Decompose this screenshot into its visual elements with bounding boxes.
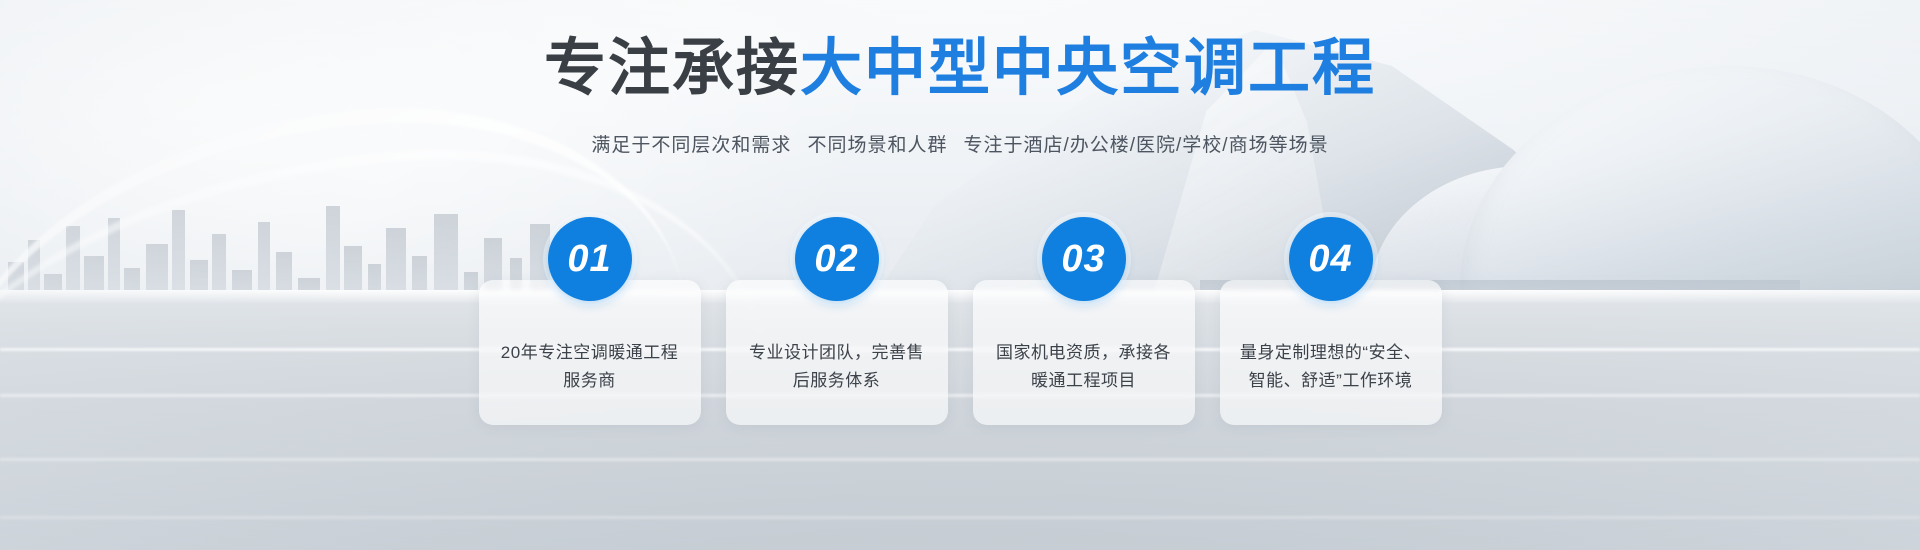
headline-dark-text: 专注承接 (544, 34, 800, 103)
banner-headline: 专注承接大中型中央空调工程 (0, 38, 1920, 100)
banner-subtitle: 满足于不同层次和需求不同场景和人群专注于酒店/办公楼/医院/学校/商场等场景 (0, 130, 1920, 157)
subtitle-part-3: 专注于酒店/办公楼/医院/学校/商场等场景 (963, 135, 1328, 156)
feature-card-01[interactable]: 01 20年专注空调暖通工程服务商 (479, 280, 701, 425)
card-description: 20年专注空调暖通工程服务商 (497, 339, 683, 394)
feature-card-03[interactable]: 03 国家机电资质，承接各暖通工程项目 (973, 280, 1195, 425)
card-number-badge: 03 (1042, 217, 1126, 301)
feature-card-02[interactable]: 02 专业设计团队，完善售后服务体系 (726, 280, 948, 425)
card-number-badge: 01 (548, 217, 632, 301)
hero-banner: 专注承接大中型中央空调工程 满足于不同层次和需求不同场景和人群专注于酒店/办公楼… (0, 0, 1920, 550)
feature-card-04[interactable]: 04 量身定制理想的“安全、智能、舒适”工作环境 (1220, 280, 1442, 425)
feature-card-list: 01 20年专注空调暖通工程服务商 02 专业设计团队，完善售后服务体系 03 … (0, 280, 1920, 425)
card-description: 量身定制理想的“安全、智能、舒适”工作环境 (1238, 339, 1424, 394)
headline-blue-text: 大中型中央空调工程 (800, 34, 1376, 103)
card-description: 国家机电资质，承接各暖通工程项目 (991, 339, 1177, 394)
subtitle-part-1: 满足于不同层次和需求 (591, 135, 791, 156)
card-number-badge: 04 (1289, 217, 1373, 301)
card-description: 专业设计团队，完善售后服务体系 (744, 339, 930, 394)
card-number-badge: 02 (795, 217, 879, 301)
subtitle-part-2: 不同场景和人群 (807, 135, 947, 156)
